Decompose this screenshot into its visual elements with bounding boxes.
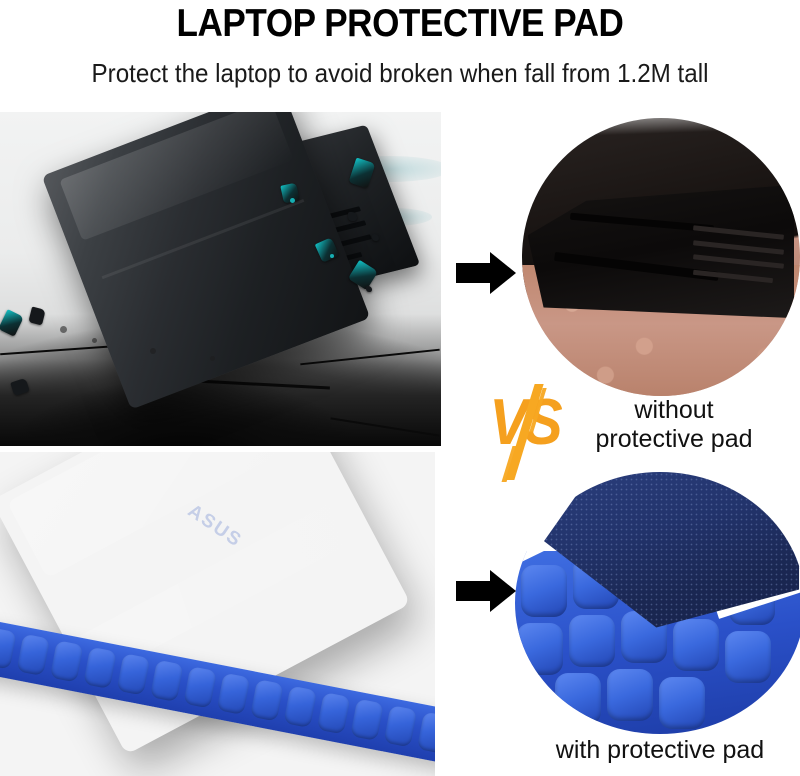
asus-logo: ASUS xyxy=(177,495,253,558)
right-arrow-icon xyxy=(456,570,518,612)
without-pad-caption: without protective pad xyxy=(548,396,800,454)
page-subtitle: Protect the laptop to avoid broken when … xyxy=(28,58,772,89)
debris-fragment xyxy=(348,212,357,221)
debris-fragment xyxy=(366,286,372,292)
asus-photo: ASUS xyxy=(0,452,435,776)
debris-fragment xyxy=(372,234,379,241)
with-pad-caption: with protective pad xyxy=(520,736,800,765)
broken-laptop-circle-photo xyxy=(522,118,800,396)
crash-photo xyxy=(0,112,441,446)
right-arrow-icon xyxy=(456,252,518,294)
header-banner: LAPTOP PROTECTIVE PAD Protect the laptop… xyxy=(0,0,800,112)
caption-line-1: without xyxy=(548,396,800,425)
caption-line-2: protective pad xyxy=(548,425,800,454)
page-title: LAPTOP PROTECTIVE PAD xyxy=(40,2,760,46)
cracked-laptop-corner xyxy=(528,185,795,318)
pad-laptop-circle-photo xyxy=(515,472,800,734)
